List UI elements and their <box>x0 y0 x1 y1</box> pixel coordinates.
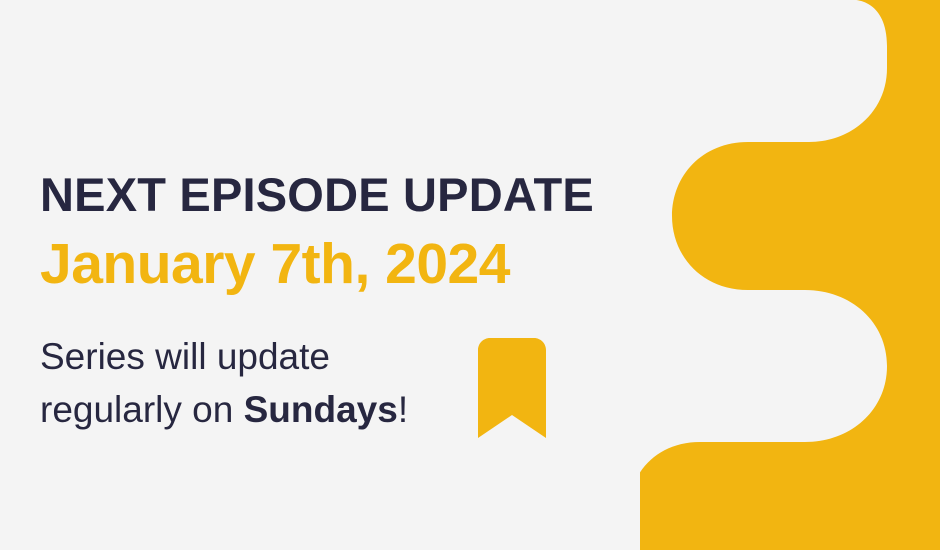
next-episode-update-banner: NEXT EPISODE UPDATE January 7th, 2024 Se… <box>0 0 940 550</box>
bookmark-icon <box>478 338 546 438</box>
schedule-note-prefix: regularly on <box>40 389 244 430</box>
schedule-note-suffix: ! <box>398 389 408 430</box>
schedule-note-line-1: Series will update <box>40 331 680 384</box>
schedule-note: Series will update regularly on Sundays! <box>40 331 680 436</box>
schedule-note-line-2: regularly on Sundays! <box>40 384 680 437</box>
schedule-note-day: Sundays <box>244 389 398 430</box>
page-title: NEXT EPISODE UPDATE <box>40 170 680 219</box>
episode-date: January 7th, 2024 <box>40 233 680 297</box>
banner-content: NEXT EPISODE UPDATE January 7th, 2024 Se… <box>40 170 680 436</box>
wavy-ribbon-decoration <box>640 0 940 550</box>
